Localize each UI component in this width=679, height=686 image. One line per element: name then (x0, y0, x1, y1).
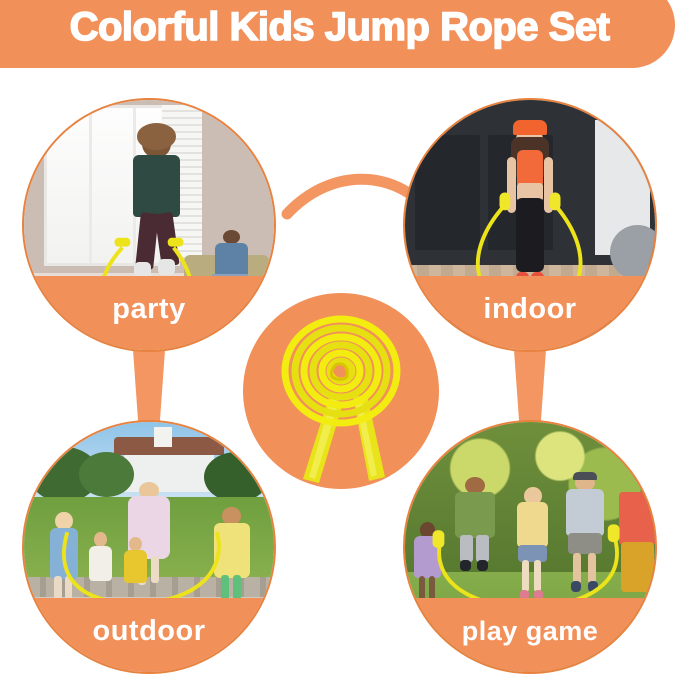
infographic-page: Colorful Kids Jump Rope Set (0, 0, 679, 686)
label-band-indoor: indoor (405, 276, 655, 350)
label-band-party: party (24, 276, 274, 350)
tile-label-outdoor: outdoor (92, 617, 205, 654)
tile-label-party: party (112, 295, 185, 332)
tile-label-indoor: indoor (483, 295, 576, 332)
label-band-outdoor: outdoor (24, 598, 274, 672)
page-title: Colorful Kids Jump Rope Set (0, 0, 679, 70)
tile-indoor[interactable]: indoor (403, 98, 657, 352)
label-band-play-game: play game (405, 598, 655, 672)
tile-play-game[interactable]: play game (403, 420, 657, 674)
rope-coil (285, 319, 397, 423)
page-title-text: Colorful Kids Jump Rope Set (70, 0, 610, 70)
rope-coil-center (331, 364, 347, 379)
tile-outdoor[interactable]: outdoor (22, 420, 276, 674)
tile-label-play-game: play game (462, 618, 599, 653)
tile-party[interactable]: party (22, 98, 276, 352)
